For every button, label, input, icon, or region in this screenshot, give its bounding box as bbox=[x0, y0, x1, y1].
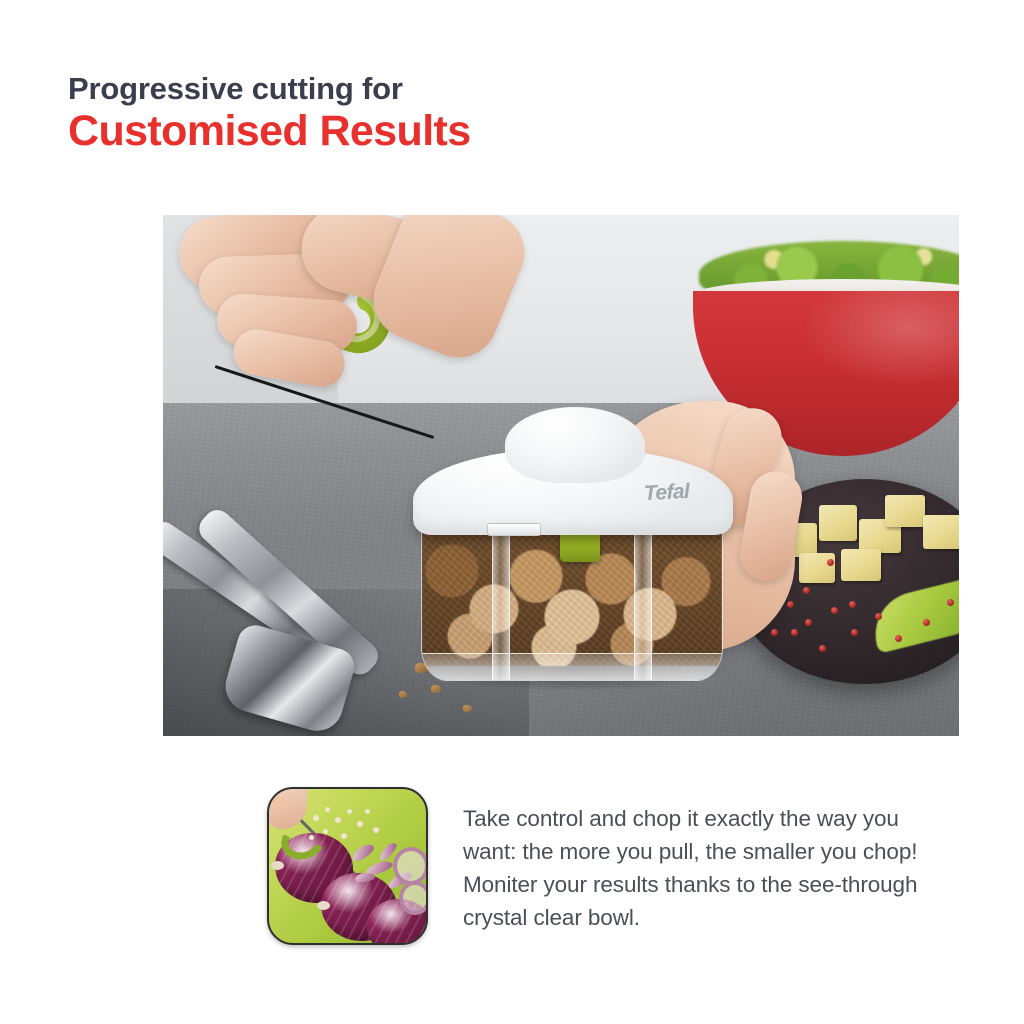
onion-root bbox=[317, 901, 330, 910]
lid-dome bbox=[505, 407, 645, 483]
onion-root bbox=[271, 861, 284, 870]
onion-chopping-thumbnail bbox=[267, 787, 428, 945]
walnut-crumb bbox=[399, 691, 407, 698]
peppercorn bbox=[923, 619, 930, 626]
onion-flake bbox=[365, 809, 370, 814]
onion-flake bbox=[313, 815, 319, 821]
peppercorn bbox=[875, 613, 882, 620]
onion-flake bbox=[335, 817, 341, 823]
cheese-cube bbox=[923, 515, 959, 549]
feature-row: Take control and chop it exactly the way… bbox=[267, 787, 927, 947]
bowl-base-ring bbox=[422, 653, 722, 680]
transparent-bowl bbox=[421, 513, 723, 681]
hero-photo: Tefal bbox=[163, 215, 959, 736]
peppercorn bbox=[895, 635, 902, 642]
peppercorn bbox=[849, 601, 856, 608]
feature-description: Take control and chop it exactly the way… bbox=[463, 802, 933, 934]
peppercorn bbox=[851, 629, 858, 636]
lid-latch bbox=[487, 523, 541, 536]
headline-line-1: Progressive cutting for bbox=[68, 70, 768, 108]
cheese-cube bbox=[885, 495, 925, 527]
onion-ring bbox=[393, 847, 428, 885]
onion-flake bbox=[341, 833, 347, 839]
onion-ring bbox=[399, 881, 428, 915]
peppercorn bbox=[947, 599, 954, 606]
onion-flake bbox=[347, 809, 352, 814]
onion-flake bbox=[357, 821, 363, 827]
onion-slice bbox=[350, 841, 376, 864]
left-hand bbox=[173, 215, 503, 461]
onion-flake bbox=[373, 827, 379, 833]
headline-line-2: Customised Results bbox=[68, 107, 768, 156]
walnut-crumb bbox=[463, 705, 472, 712]
onion-flake bbox=[325, 807, 330, 812]
page-title: Progressive cutting for Customised Resul… bbox=[68, 70, 768, 156]
cheese-cube bbox=[841, 549, 881, 581]
hero-scene: Tefal bbox=[163, 215, 959, 736]
promo-page: Progressive cutting for Customised Resul… bbox=[0, 0, 1024, 1024]
tefal-brand-logo: Tefal bbox=[643, 480, 689, 506]
fingernail bbox=[271, 797, 287, 810]
